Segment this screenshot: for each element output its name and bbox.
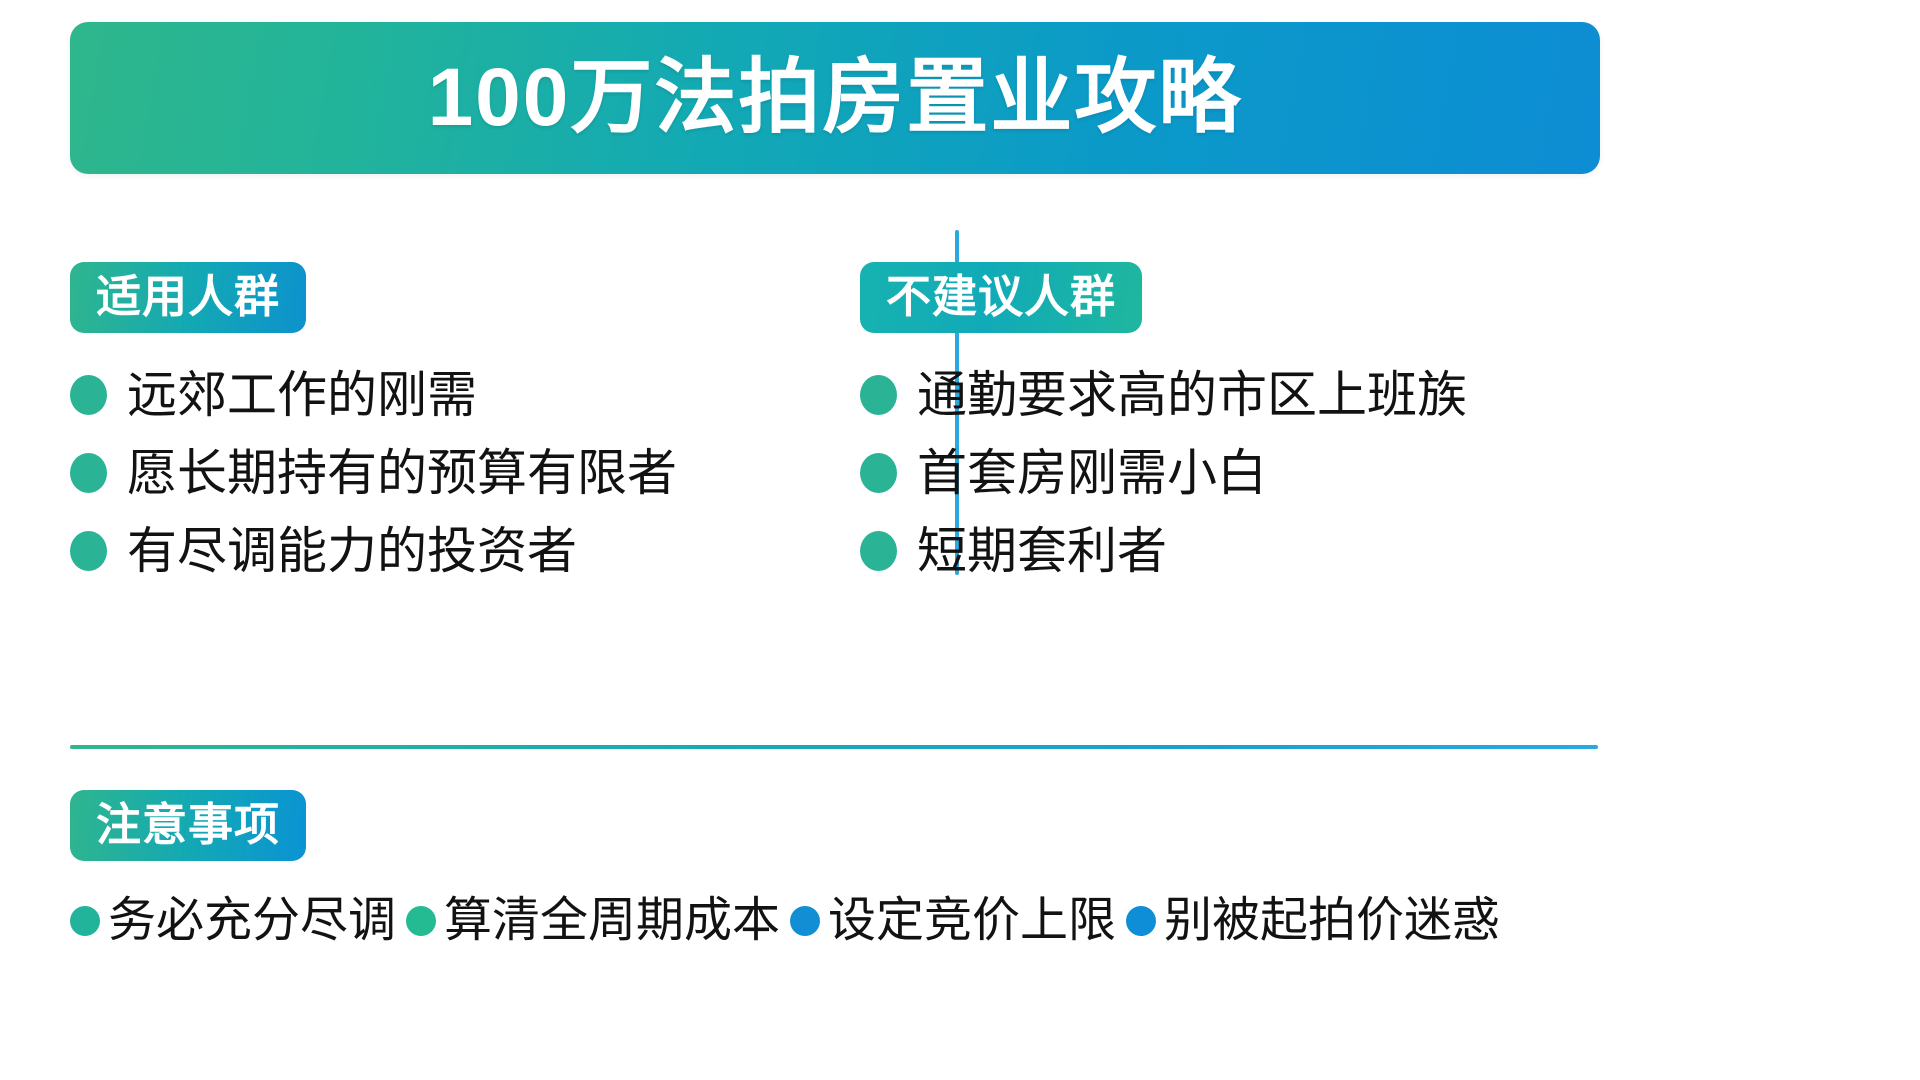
note-chip: 别被起拍价迷惑: [1126, 897, 1500, 945]
list-item-label: 愿长期持有的预算有限者: [127, 448, 677, 498]
note-label: 算清全周期成本: [444, 897, 780, 945]
list-item-label: 有尽调能力的投资者: [127, 526, 577, 576]
list-item-label: 短期套利者: [917, 526, 1167, 576]
list-item: 短期套利者: [860, 523, 1560, 579]
column-suitable: 适用人群 远郊工作的刚需 愿长期持有的预算有限者 有尽调能力的投资者: [70, 262, 770, 601]
list-item: 有尽调能力的投资者: [70, 523, 770, 579]
not-suitable-list: 通勤要求高的市区上班族 首套房刚需小白 短期套利者: [860, 367, 1560, 579]
infographic-poster: 100万法拍房置业攻略 适用人群 远郊工作的刚需 愿长期持有的预算有限者 有尽调…: [0, 0, 1920, 1080]
note-label: 务必充分尽调: [108, 897, 396, 945]
list-item-label: 通勤要求高的市区上班族: [917, 370, 1467, 420]
section-badge-not-suitable: 不建议人群: [860, 262, 1142, 333]
bullet-dot-icon: [790, 906, 820, 936]
suitable-list: 远郊工作的刚需 愿长期持有的预算有限者 有尽调能力的投资者: [70, 367, 770, 579]
note-chip: 务必充分尽调: [70, 897, 396, 945]
notes-row: 务必充分尽调 算清全周期成本 设定竞价上限 别被起拍价迷惑: [70, 897, 1600, 945]
bullet-dot-icon: [70, 453, 107, 493]
list-item: 首套房刚需小白: [860, 445, 1560, 501]
note-label: 设定竞价上限: [828, 897, 1116, 945]
note-chip: 算清全周期成本: [406, 897, 780, 945]
list-item-label: 远郊工作的刚需: [127, 370, 477, 420]
bullet-dot-icon: [70, 531, 107, 571]
page-title: 100万法拍房置业攻略: [428, 57, 1243, 139]
note-label: 别被起拍价迷惑: [1164, 897, 1500, 945]
notes-section: 注意事项 务必充分尽调 算清全周期成本 设定竞价上限 别被起拍价迷惑: [70, 790, 1600, 945]
column-not-suitable: 不建议人群 通勤要求高的市区上班族 首套房刚需小白 短期套利者: [860, 262, 1560, 601]
bullet-dot-icon: [70, 906, 100, 936]
title-banner: 100万法拍房置业攻略: [70, 22, 1600, 174]
bullet-dot-icon: [860, 531, 897, 571]
horizontal-divider: [70, 745, 1598, 749]
bullet-dot-icon: [406, 906, 436, 936]
list-item: 远郊工作的刚需: [70, 367, 770, 423]
note-chip: 设定竞价上限: [790, 897, 1116, 945]
section-badge-suitable: 适用人群: [70, 262, 306, 333]
section-badge-notes: 注意事项: [70, 790, 306, 861]
list-item: 愿长期持有的预算有限者: [70, 445, 770, 501]
bullet-dot-icon: [70, 375, 107, 415]
bullet-dot-icon: [1126, 906, 1156, 936]
list-item-label: 首套房刚需小白: [917, 448, 1267, 498]
bullet-dot-icon: [860, 375, 897, 415]
comparison-columns: 适用人群 远郊工作的刚需 愿长期持有的预算有限者 有尽调能力的投资者 不建议人群: [70, 262, 1600, 602]
bullet-dot-icon: [860, 453, 897, 493]
list-item: 通勤要求高的市区上班族: [860, 367, 1560, 423]
